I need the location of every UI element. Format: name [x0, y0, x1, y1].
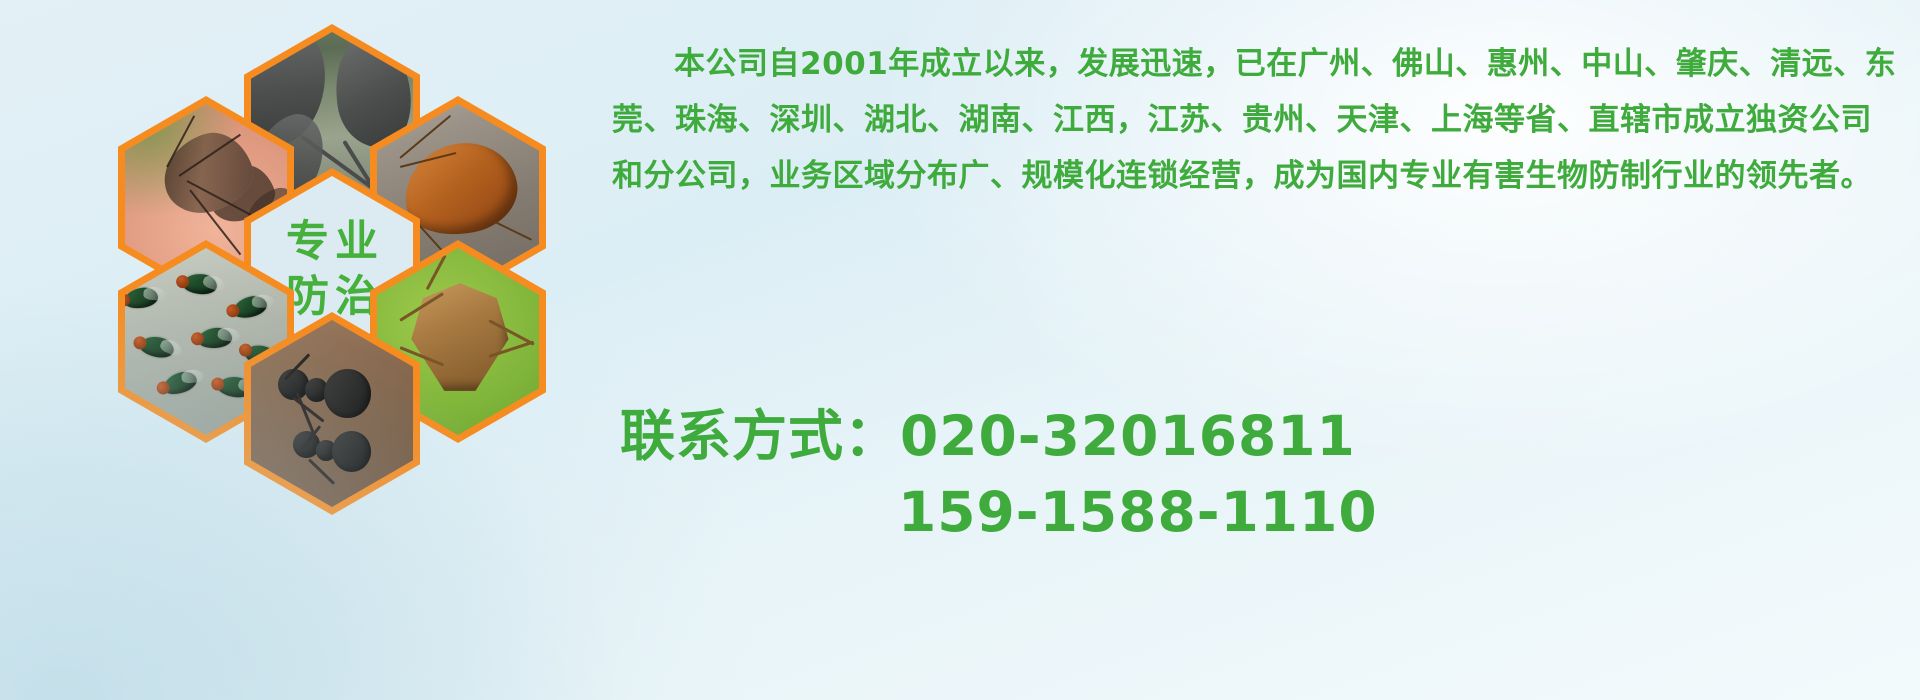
contact-block: 联系方式：020-32016811 159-1588-1110 — [620, 398, 1378, 550]
company-copy: 本公司自2001年成立以来，发展迅速，已在广州、佛山、惠州、中山、肇庆、清远、东… — [612, 36, 1902, 204]
ant-photo — [251, 320, 413, 507]
company-description: 本公司自2001年成立以来，发展迅速，已在广州、佛山、惠州、中山、肇庆、清远、东… — [612, 36, 1897, 204]
hex-photo-ant-frame — [251, 320, 413, 507]
badge-line-1: 专业 — [280, 221, 384, 264]
honeycomb-image-cluster: 专业 防治 — [96, 8, 576, 568]
contact-primary-line: 联系方式：020-32016811 — [620, 398, 1378, 474]
contact-secondary-line: 159-1588-1110 — [620, 474, 1378, 550]
pest-control-banner: 专业 防治 — [0, 0, 1920, 700]
